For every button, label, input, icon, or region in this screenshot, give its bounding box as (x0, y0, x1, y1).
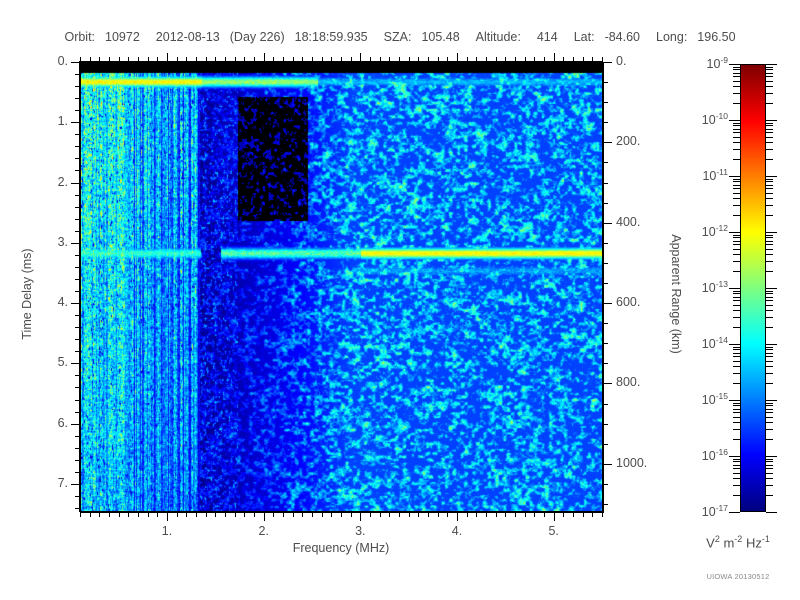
y-axis-major-tick-left (71, 243, 80, 244)
x-axis-minor-tick (418, 512, 419, 517)
x-axis-minor-tick (534, 512, 535, 517)
colorbar-minor-tick (766, 73, 773, 74)
colorbar-minor-tick (733, 125, 740, 126)
x-axis-minor-tick (312, 512, 313, 517)
colorbar-minor-tick (733, 297, 740, 298)
colorbar-minor-tick (733, 69, 740, 70)
x-axis-minor-tick-top (109, 57, 110, 62)
colorbar-tick-mantissa: 10 (707, 57, 721, 71)
x-axis-tick-label: 5. (532, 524, 576, 538)
colorbar-minor-tick (733, 412, 740, 413)
x-axis-minor-tick-top (331, 57, 332, 62)
colorbar-minor-tick (766, 429, 773, 430)
colorbar-minor-tick (733, 185, 740, 186)
colorbar-major-tick (766, 344, 777, 345)
x-axis-minor-tick (331, 512, 332, 517)
x-axis-minor-tick (90, 512, 91, 517)
x-axis-minor-tick (476, 512, 477, 517)
colorbar-minor-tick (766, 205, 773, 206)
colorbar-minor-tick (733, 179, 740, 180)
colorbar-minor-tick (733, 468, 740, 469)
y-axis-minor-tick-left (75, 496, 80, 497)
spectrogram-plot-area (80, 62, 604, 513)
latitude-label: Lat: (574, 30, 595, 44)
colorbar-minor-tick (733, 76, 740, 77)
colorbar-tick-exponent: -17 (716, 503, 728, 513)
y-axis-minor-tick-right (603, 183, 608, 184)
unit-meter-exp: -2 (734, 534, 742, 544)
colorbar-tick-mantissa: 10 (702, 449, 716, 463)
colorbar-minor-tick (733, 249, 740, 250)
x-axis-minor-tick-top (476, 57, 477, 62)
colorbar-minor-tick (733, 429, 740, 430)
colorbar-minor-tick (766, 405, 773, 406)
x-axis-major-tick-top (360, 53, 361, 62)
colorbar-minor-tick (733, 181, 740, 182)
x-axis-minor-tick (148, 512, 149, 517)
colorbar-minor-tick (766, 459, 773, 460)
y-axis-minor-tick-right (603, 363, 608, 364)
colorbar-major-tick (729, 400, 740, 401)
colorbar-minor-tick (766, 291, 773, 292)
colorbar-minor-tick (766, 129, 773, 130)
colorbar-minor-tick (766, 366, 773, 367)
x-axis-minor-tick (225, 512, 226, 517)
y-axis-minor-tick-left (75, 351, 80, 352)
colorbar-minor-tick (766, 473, 773, 474)
x-axis-minor-tick-top (254, 57, 255, 62)
x-axis-minor-tick-top (370, 57, 371, 62)
x-axis-major-tick (554, 512, 555, 521)
y-axis-tick-label-left: 0. (22, 54, 68, 68)
colorbar-tick-mantissa: 10 (702, 281, 716, 295)
colorbar-minor-tick (733, 495, 740, 496)
x-axis-minor-tick-top (322, 57, 323, 62)
colorbar-minor-tick (766, 123, 773, 124)
x-axis-major-tick-top (264, 53, 265, 62)
colorbar-tick-mantissa: 10 (702, 337, 716, 351)
x-axis-tick-label: 4. (435, 524, 479, 538)
x-axis-minor-tick-top (186, 57, 187, 62)
unit-hertz-exp: -1 (762, 534, 770, 544)
longitude-label: Long: (656, 30, 687, 44)
x-axis-minor-tick (322, 512, 323, 517)
colorbar-minor-tick (766, 81, 773, 82)
unit-meter: m (723, 535, 734, 550)
colorbar-minor-tick (766, 159, 773, 160)
y-axis-minor-tick-left (75, 508, 80, 509)
x-axis-minor-tick (196, 512, 197, 517)
x-axis-minor-tick (157, 512, 158, 517)
x-axis-minor-tick-top (525, 57, 526, 62)
colorbar-tick-mantissa: 10 (702, 393, 716, 407)
x-axis-minor-tick-top (302, 57, 303, 62)
plot-border-left (79, 61, 80, 512)
y-axis-minor-tick-right (603, 323, 608, 324)
y-axis-minor-tick-left (75, 472, 80, 473)
y-axis-major-tick-left (71, 424, 80, 425)
colorbar-minor-tick (733, 271, 740, 272)
y-axis-major-tick-right (603, 142, 612, 143)
x-axis-minor-tick-top (119, 57, 120, 62)
colorbar-minor-tick (766, 297, 773, 298)
x-axis-minor-tick-top (148, 57, 149, 62)
colorbar-minor-tick (766, 193, 773, 194)
x-axis-minor-tick (409, 512, 410, 517)
x-axis-minor-tick (244, 512, 245, 517)
colorbar-minor-tick (766, 361, 773, 362)
y-axis-minor-tick-left (75, 219, 80, 220)
colorbar-minor-tick (733, 327, 740, 328)
colorbar-tick-exponent: -14 (716, 335, 728, 345)
x-axis-minor-tick-top (138, 57, 139, 62)
x-axis-minor-tick (177, 512, 178, 517)
colorbar-minor-tick (766, 241, 773, 242)
x-axis-minor-tick (119, 512, 120, 517)
colorbar-minor-tick (733, 244, 740, 245)
x-axis-minor-tick-top (80, 57, 81, 62)
y-axis-minor-tick-right (603, 263, 608, 264)
colorbar-minor-tick (733, 67, 740, 68)
x-axis-minor-tick (602, 512, 603, 517)
colorbar-minor-tick (733, 193, 740, 194)
y-axis-minor-tick-right (603, 404, 608, 405)
colorbar-tick-label: 10-14 (656, 335, 728, 351)
colorbar-minor-tick (733, 205, 740, 206)
colorbar-tick-exponent: -13 (716, 279, 728, 289)
colorbar-minor-tick (733, 310, 740, 311)
colorbar-minor-tick (733, 409, 740, 410)
x-axis-minor-tick-top (583, 57, 584, 62)
y-axis-tick-label-right: 600. (616, 295, 676, 309)
colorbar-minor-tick (766, 261, 773, 262)
x-axis-minor-tick (505, 512, 506, 517)
y-axis-major-tick-left (71, 484, 80, 485)
x-axis-minor-tick (235, 512, 236, 517)
colorbar-tick-label: 10-16 (656, 447, 728, 463)
x-axis-minor-tick (447, 512, 448, 517)
y-axis-minor-tick-left (75, 339, 80, 340)
colorbar-minor-tick (766, 412, 773, 413)
x-axis-minor-tick-top (438, 57, 439, 62)
y-axis-minor-tick-left (75, 207, 80, 208)
colorbar-tick-exponent: -15 (716, 391, 728, 401)
colorbar-tick-exponent: -11 (716, 167, 728, 177)
y-axis-minor-tick-right (603, 283, 608, 284)
y-axis-minor-tick-left (75, 255, 80, 256)
y-axis-tick-label-left: 1. (22, 114, 68, 128)
colorbar-major-tick (729, 120, 740, 121)
colorbar-minor-tick (766, 478, 773, 479)
x-axis-minor-tick (573, 512, 574, 517)
x-axis-minor-tick (389, 512, 390, 517)
x-axis-minor-tick-top (515, 57, 516, 62)
latitude-value: -84.60 (605, 30, 640, 44)
x-axis-minor-tick (399, 512, 400, 517)
ionogram-heatmap (81, 63, 603, 512)
x-axis-minor-tick-top (157, 57, 158, 62)
colorbar-minor-tick (766, 132, 773, 133)
y-axis-title-left: Time Delay (ms) (20, 234, 34, 354)
y-axis-minor-tick-right (603, 203, 608, 204)
longitude-value: 196.50 (697, 30, 735, 44)
colorbar-minor-tick (766, 439, 773, 440)
colorbar-major-tick (766, 456, 777, 457)
x-axis-minor-tick-top (283, 57, 284, 62)
x-axis-minor-tick-top (399, 57, 400, 62)
y-axis-minor-tick-right (603, 424, 608, 425)
x-axis-minor-tick-top (177, 57, 178, 62)
y-axis-minor-tick-right (603, 504, 608, 505)
colorbar-minor-tick (766, 93, 773, 94)
x-axis-minor-tick-top (534, 57, 535, 62)
y-axis-major-tick-left (71, 363, 80, 364)
observation-time: 18:18:59.935 (295, 30, 368, 44)
colorbar-minor-tick (733, 439, 740, 440)
colorbar-minor-tick (733, 373, 740, 374)
x-axis-tick-label: 2. (242, 524, 286, 538)
y-axis-minor-tick-left (75, 86, 80, 87)
colorbar-unit-label: V2 m-2 Hz-1 (676, 534, 800, 550)
colorbar-minor-tick (766, 137, 773, 138)
x-axis-major-tick-top (554, 53, 555, 62)
colorbar-tick-label: 10-13 (656, 279, 728, 295)
y-axis-minor-tick-left (75, 195, 80, 196)
x-axis-minor-tick (496, 512, 497, 517)
x-axis-minor-tick-top (351, 57, 352, 62)
colorbar-minor-tick (766, 149, 773, 150)
metadata-header: Orbit:109722012-08-13(Day 226)18:18:59.9… (0, 30, 800, 44)
colorbar-minor-tick (733, 86, 740, 87)
colorbar-minor-tick (766, 86, 773, 87)
colorbar-minor-tick (733, 241, 740, 242)
colorbar-minor-tick (733, 93, 740, 94)
x-axis-minor-tick-top (312, 57, 313, 62)
x-axis-minor-tick (467, 512, 468, 517)
colorbar-minor-tick (766, 300, 773, 301)
colorbar-tick-label: 10-11 (656, 167, 728, 183)
colorbar-minor-tick (733, 123, 740, 124)
y-axis-major-tick-left (71, 303, 80, 304)
colorbar-minor-tick (766, 69, 773, 70)
y-axis-tick-label-right: 200. (616, 134, 676, 148)
colorbar-minor-tick (733, 159, 740, 160)
colorbar-minor-tick (733, 73, 740, 74)
x-axis-tick-label: 1. (145, 524, 189, 538)
colorbar-minor-tick (766, 249, 773, 250)
orbit-value: 10972 (105, 30, 140, 44)
altitude-label: Altitude: (476, 30, 521, 44)
x-axis-minor-tick-top (99, 57, 100, 62)
colorbar-major-tick (766, 288, 777, 289)
x-axis-minor-tick (186, 512, 187, 517)
y-axis-minor-tick-right (603, 484, 608, 485)
x-axis-minor-tick-top (505, 57, 506, 62)
y-axis-major-tick-right (603, 383, 612, 384)
colorbar-major-tick (729, 344, 740, 345)
x-axis-minor-tick (428, 512, 429, 517)
colorbar-minor-tick (733, 235, 740, 236)
y-axis-minor-tick-left (75, 98, 80, 99)
y-axis-minor-tick-left (75, 327, 80, 328)
x-axis-minor-tick (293, 512, 294, 517)
x-axis-minor-tick-top (293, 57, 294, 62)
x-axis-minor-tick (283, 512, 284, 517)
colorbar-minor-tick (733, 383, 740, 384)
y-axis-minor-tick-right (603, 162, 608, 163)
colorbar-minor-tick (733, 347, 740, 348)
x-axis-minor-tick (99, 512, 100, 517)
colorbar-minor-tick (733, 254, 740, 255)
x-axis-major-tick (457, 512, 458, 521)
colorbar-tick-label: 10-9 (656, 55, 728, 71)
colorbar-minor-tick (733, 461, 740, 462)
y-axis-major-tick-right (603, 223, 612, 224)
colorbar-minor-tick (766, 254, 773, 255)
y-axis-major-tick-left (71, 122, 80, 123)
colorbar-minor-tick (733, 349, 740, 350)
x-axis-minor-tick (486, 512, 487, 517)
colorbar-minor-tick (733, 215, 740, 216)
y-axis-tick-label-left: 6. (22, 416, 68, 430)
y-axis-minor-tick-right (603, 343, 608, 344)
unit-volt-exp: 2 (715, 534, 720, 544)
x-axis-minor-tick (515, 512, 516, 517)
y-axis-minor-tick-left (75, 158, 80, 159)
colorbar-tick-exponent: -10 (716, 111, 728, 121)
x-axis-minor-tick-top (244, 57, 245, 62)
colorbar-minor-tick (733, 356, 740, 357)
colorbar-minor-tick (733, 473, 740, 474)
colorbar-minor-tick (766, 244, 773, 245)
colorbar-minor-tick (766, 465, 773, 466)
colorbar-minor-tick (733, 485, 740, 486)
y-axis-minor-tick-left (75, 231, 80, 232)
colorbar-tick-mantissa: 10 (702, 505, 716, 519)
colorbar-minor-tick (733, 103, 740, 104)
colorbar-major-tick (729, 288, 740, 289)
colorbar-minor-tick (766, 215, 773, 216)
colorbar-minor-tick (766, 353, 773, 354)
colorbar-tick-mantissa: 10 (702, 113, 716, 127)
y-axis-major-tick-left (71, 62, 80, 63)
y-axis-minor-tick-left (75, 375, 80, 376)
x-axis-major-tick-top (457, 53, 458, 62)
colorbar-minor-tick (766, 468, 773, 469)
x-axis-major-tick (264, 512, 265, 521)
x-axis-minor-tick-top (215, 57, 216, 62)
colorbar-minor-tick (766, 237, 773, 238)
y-axis-minor-tick-right (603, 82, 608, 83)
altitude-value: 414 (537, 30, 558, 44)
observation-date: 2012-08-13 (156, 30, 220, 44)
colorbar-tick-label: 10-15 (656, 391, 728, 407)
x-axis-minor-tick-top (225, 57, 226, 62)
x-axis-minor-tick (592, 512, 593, 517)
colorbar-minor-tick (733, 237, 740, 238)
colorbar-minor-tick (733, 465, 740, 466)
x-axis-minor-tick-top (235, 57, 236, 62)
x-axis-minor-tick-top (273, 57, 274, 62)
x-axis-minor-tick (544, 512, 545, 517)
colorbar-minor-tick (766, 67, 773, 68)
colorbar-major-tick (766, 176, 777, 177)
unit-volt: V (706, 535, 715, 550)
y-axis-tick-label-left: 2. (22, 175, 68, 189)
colorbar-minor-tick (766, 373, 773, 374)
y-axis-minor-tick-left (75, 412, 80, 413)
colorbar-major-tick (729, 232, 740, 233)
y-axis-minor-tick-left (75, 146, 80, 147)
colorbar-minor-tick (766, 76, 773, 77)
x-axis-minor-tick (80, 512, 81, 517)
colorbar-minor-tick (733, 417, 740, 418)
colorbar-minor-tick (766, 179, 773, 180)
colorbar-minor-tick (766, 185, 773, 186)
colorbar-minor-tick (766, 356, 773, 357)
y-axis-minor-tick-left (75, 110, 80, 111)
x-axis-minor-tick-top (206, 57, 207, 62)
x-axis-minor-tick-top (418, 57, 419, 62)
colorbar-tick-exponent: -12 (716, 223, 728, 233)
x-axis-minor-tick-top (544, 57, 545, 62)
y-axis-major-tick-right (603, 62, 612, 63)
y-axis-minor-tick-left (75, 267, 80, 268)
colorbar-minor-tick (733, 403, 740, 404)
colorbar-minor-tick (766, 317, 773, 318)
x-axis-minor-tick (563, 512, 564, 517)
colorbar-minor-tick (766, 235, 773, 236)
colorbar-minor-tick (733, 137, 740, 138)
x-axis-major-tick (167, 512, 168, 521)
x-axis-minor-tick (380, 512, 381, 517)
colorbar-minor-tick (733, 353, 740, 354)
x-axis-minor-tick (302, 512, 303, 517)
colorbar-minor-tick (766, 103, 773, 104)
y-axis-minor-tick-left (75, 291, 80, 292)
colorbar-minor-tick (733, 300, 740, 301)
sza-label: SZA: (384, 30, 412, 44)
x-axis-minor-tick-top (128, 57, 129, 62)
colorbar-minor-tick (733, 142, 740, 143)
sza-value: 105.48 (421, 30, 459, 44)
y-axis-minor-tick-right (603, 102, 608, 103)
colorbar-minor-tick (766, 293, 773, 294)
x-axis-minor-tick-top (389, 57, 390, 62)
x-axis-minor-tick-top (467, 57, 468, 62)
colorbar-minor-tick (766, 327, 773, 328)
x-axis-minor-tick-top (409, 57, 410, 62)
x-axis-major-tick-top (167, 53, 168, 62)
colorbar-minor-tick (766, 485, 773, 486)
x-axis-minor-tick-top (573, 57, 574, 62)
colorbar-minor-tick (766, 409, 773, 410)
x-axis-minor-tick (583, 512, 584, 517)
x-axis-minor-tick (341, 512, 342, 517)
colorbar-minor-tick (766, 417, 773, 418)
colorbar-minor-tick (766, 461, 773, 462)
x-axis-minor-tick-top (563, 57, 564, 62)
colorbar-tick-label: 10-10 (656, 111, 728, 127)
colorbar-major-tick (766, 232, 777, 233)
x-axis-minor-tick-top (90, 57, 91, 62)
x-axis-minor-tick-top (380, 57, 381, 62)
y-axis-minor-tick-right (603, 122, 608, 123)
y-axis-minor-tick-right (603, 243, 608, 244)
x-axis-minor-tick (351, 512, 352, 517)
x-axis-minor-tick (273, 512, 274, 517)
x-axis-minor-tick (370, 512, 371, 517)
